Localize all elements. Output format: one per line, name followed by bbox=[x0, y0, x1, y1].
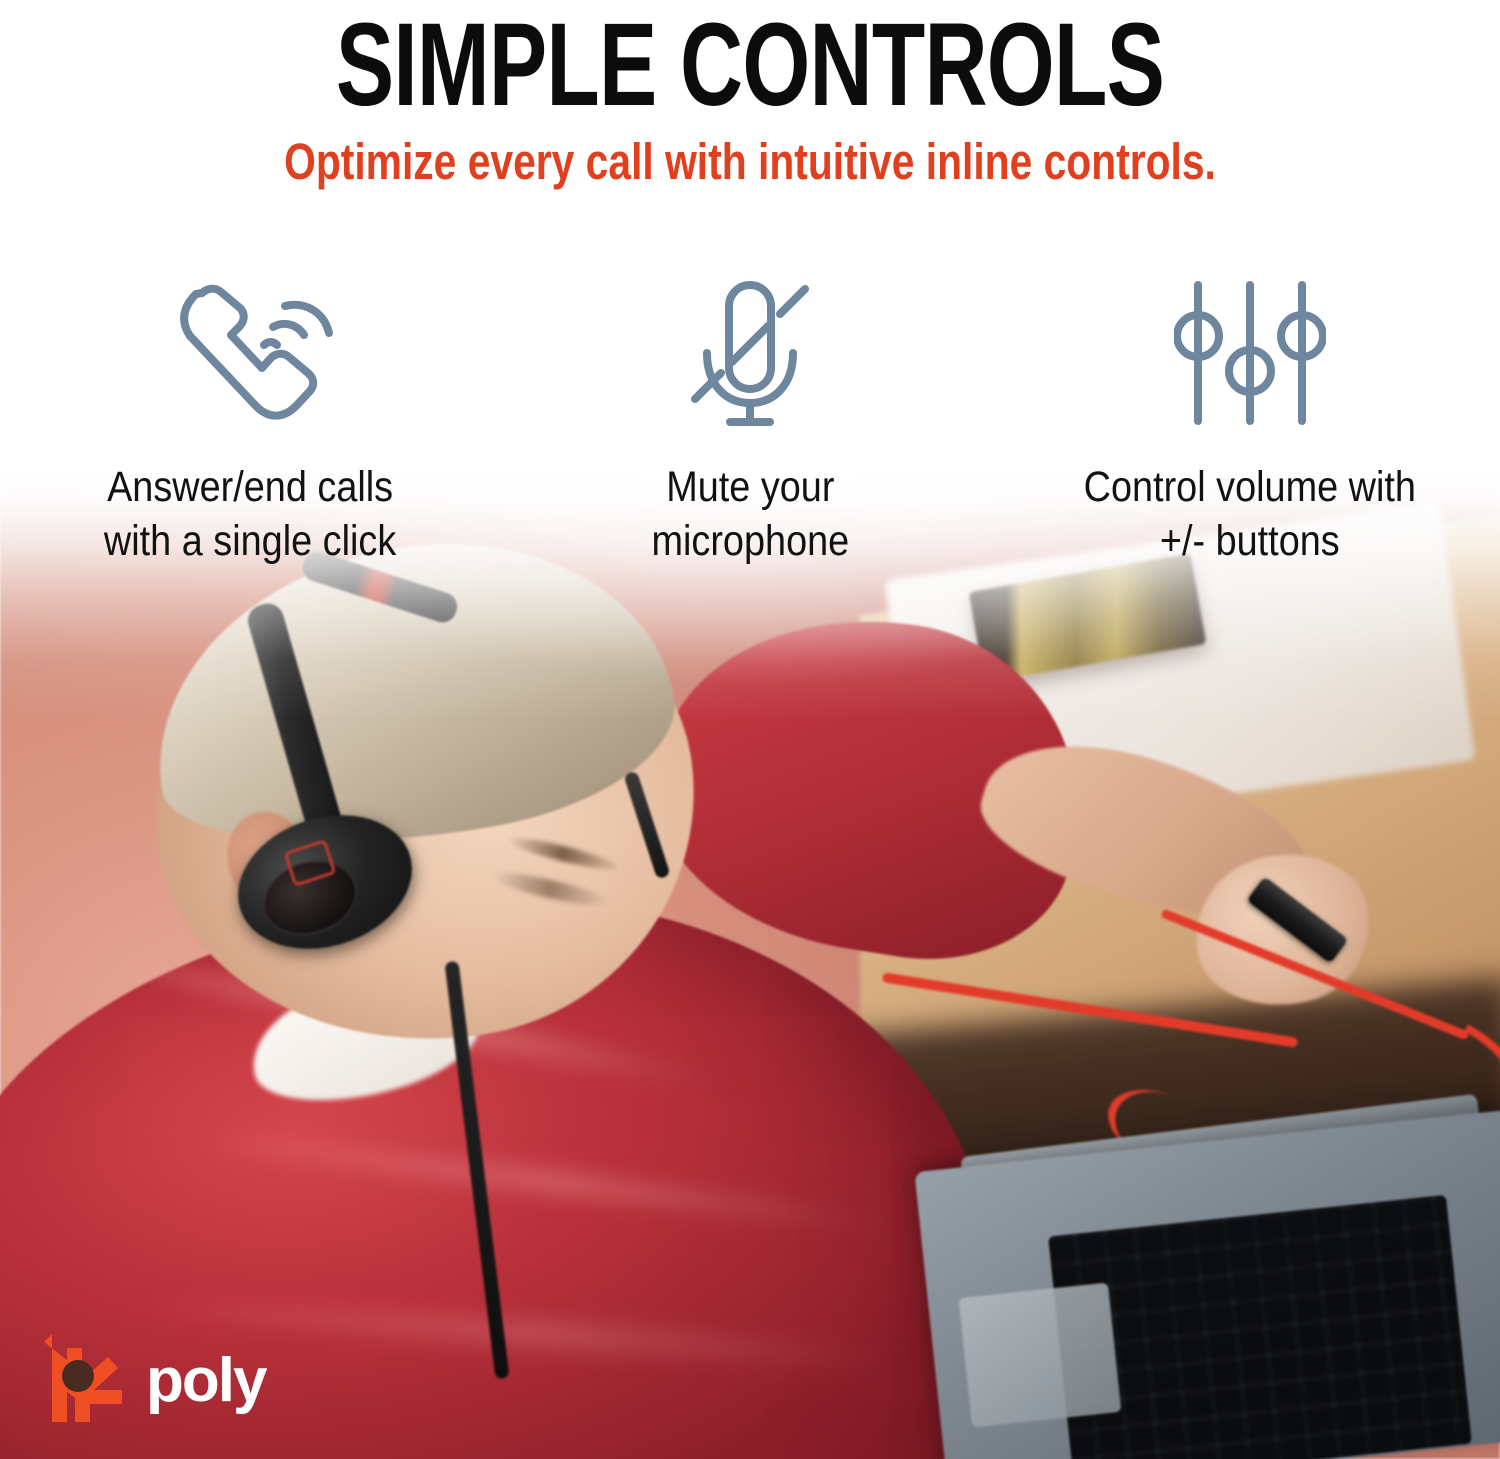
product-lifestyle-photo bbox=[0, 0, 1500, 1459]
marketing-image: SIMPLE CONTROLS Optimize every call with… bbox=[0, 0, 1500, 1459]
poly-logo: poly bbox=[36, 1330, 265, 1431]
laptop-trackpad bbox=[959, 1283, 1122, 1428]
poly-wordmark: poly bbox=[146, 1350, 265, 1412]
poly-propeller-mark bbox=[36, 1330, 128, 1431]
